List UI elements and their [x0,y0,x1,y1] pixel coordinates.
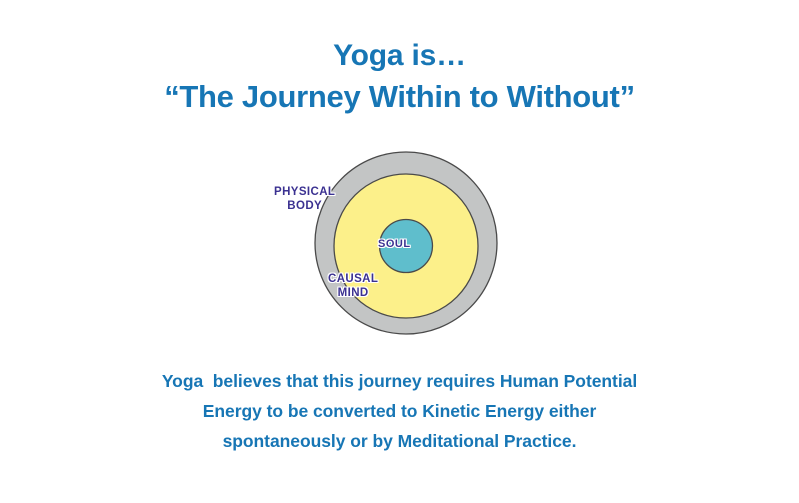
caption-line-2: Energy to be converted to Kinetic Energy… [0,396,799,426]
causal-mind-label: CAUSAL MIND [328,272,378,300]
title-block: Yoga is… “The Journey Within to Without” [0,38,799,116]
page-title-line-1: Yoga is… [0,38,799,73]
page-title-line-2: “The Journey Within to Without” [0,79,799,116]
caption-line-1: Yoga believes that this journey requires… [0,366,799,396]
causal-mind-label-line-1: CAUSAL [328,273,378,285]
physical-body-label-line-1: PHYSICAL [274,186,335,198]
soul-label: SOUL [378,238,411,251]
slide-canvas: Yoga is… “The Journey Within to Without”… [0,0,799,503]
concentric-circle-diagram: PHYSICAL BODY CAUSAL MIND SOUL [296,142,502,354]
causal-mind-label-line-2: MIND [338,287,369,299]
physical-body-label-line-2: BODY [287,200,322,212]
physical-body-label: PHYSICAL BODY [274,185,335,213]
caption-line-3: spontaneously or by Meditational Practic… [0,426,799,456]
caption-block: Yoga believes that this journey requires… [0,366,799,456]
